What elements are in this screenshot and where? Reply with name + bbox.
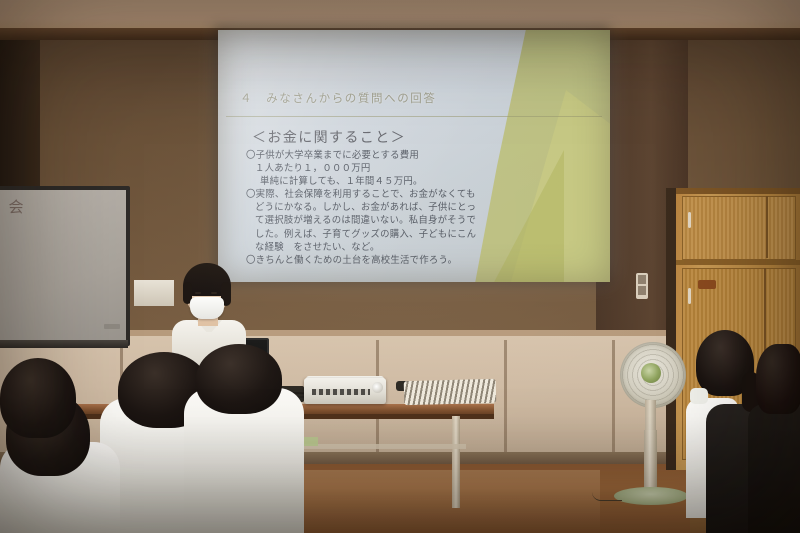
student-hair — [756, 344, 800, 414]
projector-ports — [312, 389, 370, 395]
classroom-photo: ４ みなさんからの質問への回答 ＜お金に関すること＞ 〇子供が大学卒業までに必要… — [0, 0, 800, 533]
whiteboard-tray — [0, 340, 128, 348]
student-hair — [196, 344, 282, 414]
whiteboard-tab — [104, 324, 120, 329]
fan-hub — [641, 363, 661, 383]
slide-title: ４ みなさんからの質問への回答 — [240, 90, 437, 106]
slide-body-line: 単純に計算しても、１年間４５万円。 — [246, 174, 546, 187]
whiteboard-logo: 会 — [2, 196, 30, 220]
presenter-eye — [211, 292, 217, 294]
cabinet-upper-door[interactable] — [682, 196, 796, 260]
face-mask — [190, 297, 224, 319]
student-hair — [0, 358, 76, 438]
projector-lens — [372, 382, 383, 393]
fan-neck — [645, 400, 656, 432]
slide-body: 〇子供が大学卒業までに必要とする費用 １人あたり１，０００万円 単純に計算しても… — [246, 148, 546, 266]
slide-body-line: どうにかなる。しかし、お金があれば、子供にとっ — [246, 200, 546, 213]
face-mask — [690, 388, 708, 404]
fan-base — [614, 487, 688, 505]
slide-heading: ＜お金に関すること＞ — [252, 127, 406, 147]
fan-power-cord — [592, 492, 622, 501]
striped-cloth — [404, 379, 497, 405]
slide-body-line: １人あたり１，０００万円 — [246, 161, 546, 174]
light-switch[interactable] — [636, 273, 648, 299]
slide-body-line: 〇きちんと働くための土台を高校生活で作ろう。 — [246, 253, 546, 266]
fan-pole — [644, 430, 657, 494]
cabinet-handle[interactable] — [688, 212, 691, 228]
slide-body-line: て選択肢が増えるのは間違いない。私自身がそうで — [246, 213, 546, 226]
table-leg — [452, 416, 460, 508]
wainscot-panel-divider — [612, 340, 615, 452]
wainscot-panel-divider — [504, 340, 507, 452]
slide-body-line: な経験 をさせたい、など。 — [246, 240, 546, 253]
student-uniform — [748, 404, 800, 533]
slide-divider-rule — [226, 116, 602, 117]
switch-toggle[interactable] — [638, 286, 646, 295]
cabinet-handle[interactable] — [688, 288, 691, 304]
switch-toggle[interactable] — [638, 275, 646, 284]
paper-stack — [134, 280, 174, 306]
slide-body-line: した。例えば、子育てグッズの購入、子どもにこん — [246, 227, 546, 240]
cabinet-upper-door-split — [766, 196, 768, 258]
cabinet-label-plate — [698, 280, 716, 289]
slide-body-line: 〇実際、社会保障を利用することで、お金がなくても — [246, 187, 546, 200]
projection-screen: ４ みなさんからの質問への回答 ＜お金に関すること＞ 〇子供が大学卒業までに必要… — [218, 30, 610, 282]
cabinet-top-frame — [676, 188, 800, 194]
cabinet-mid-rail — [676, 260, 800, 265]
slide-body-line: 〇子供が大学卒業までに必要とする費用 — [246, 148, 546, 161]
presenter-eye — [195, 292, 201, 294]
